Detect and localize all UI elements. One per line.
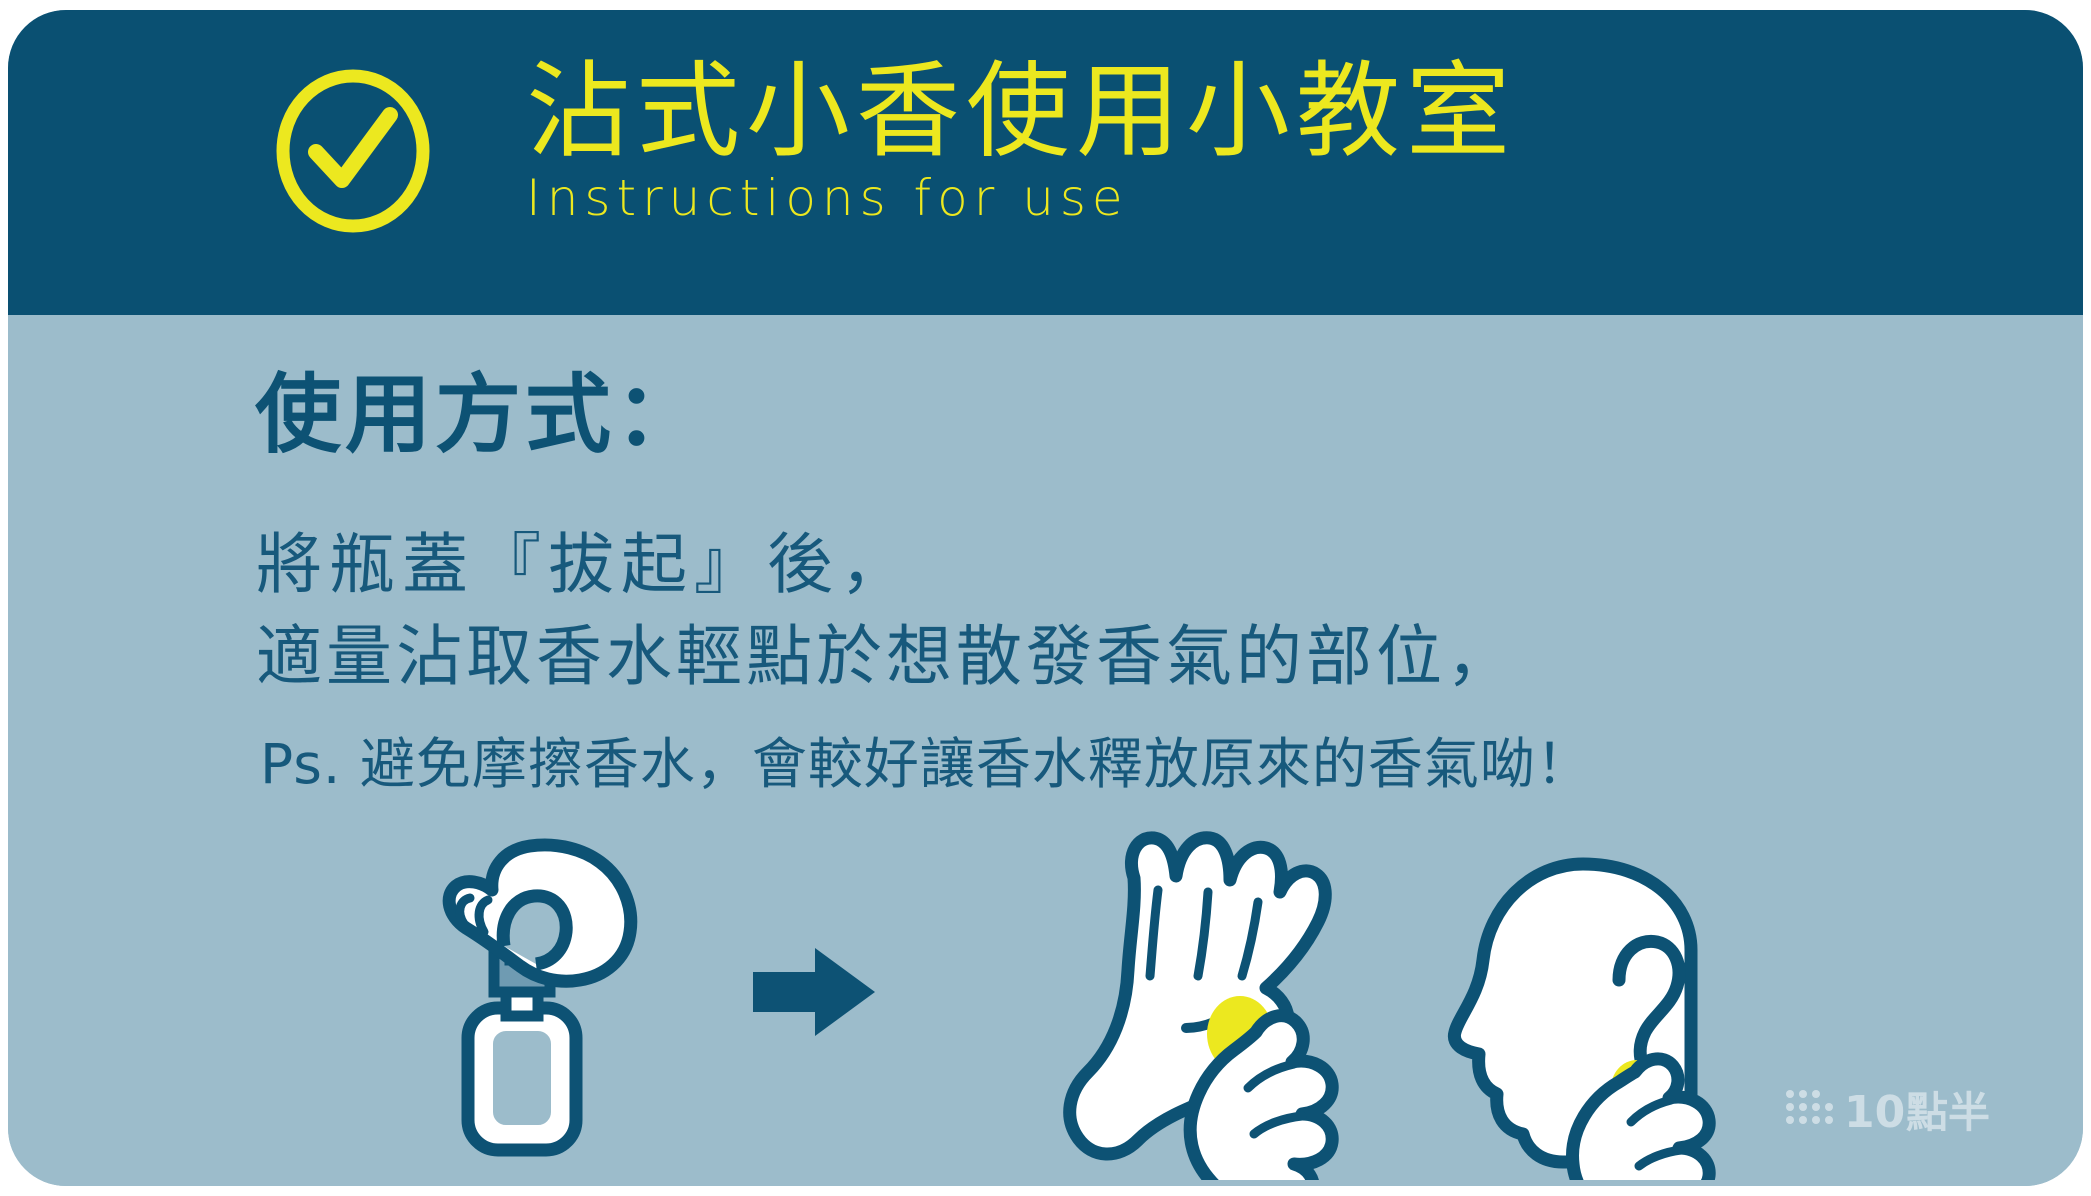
section-heading: 使用方式：: [255, 369, 705, 461]
instruction-note: Ps. 避免摩擦香水，會較好讓香水釋放原來的香氣呦！: [260, 733, 1592, 795]
svg-text:10: 10: [1844, 1087, 1905, 1138]
arrow-right-icon: [753, 948, 875, 1036]
page-title: 沾式小香使用小教室: [526, 56, 1516, 166]
page-subtitle: Instructions for use: [526, 170, 1516, 226]
instruction-card: 沾式小香使用小教室 Instructions for use 使用方式： 將瓶蓋…: [8, 10, 2083, 1186]
svg-text:點半: 點半: [1906, 1088, 1990, 1137]
head-dabbing-behind-ear-icon: [1454, 864, 1709, 1180]
brand-watermark: 10 點半: [1784, 1080, 1999, 1142]
hand-dabbing-wrist-icon: [1070, 838, 1332, 1180]
hand-pulling-bottle-cap-icon: [449, 845, 631, 1150]
instruction-line-1: 將瓶蓋『拔起』後，: [256, 528, 913, 602]
card-header: 沾式小香使用小教室 Instructions for use: [8, 10, 2083, 315]
check-circle-icon: [270, 68, 436, 234]
card-body: 使用方式： 將瓶蓋『拔起』後， 適量沾取香水輕點於想散發香氣的部位， Ps. 避…: [8, 315, 2083, 1186]
header-title-block: 沾式小香使用小教室 Instructions for use: [526, 56, 1516, 226]
instruction-line-2: 適量沾取香水輕點於想散發香氣的部位，: [256, 620, 1516, 694]
illustration-row: [8, 820, 2083, 1180]
